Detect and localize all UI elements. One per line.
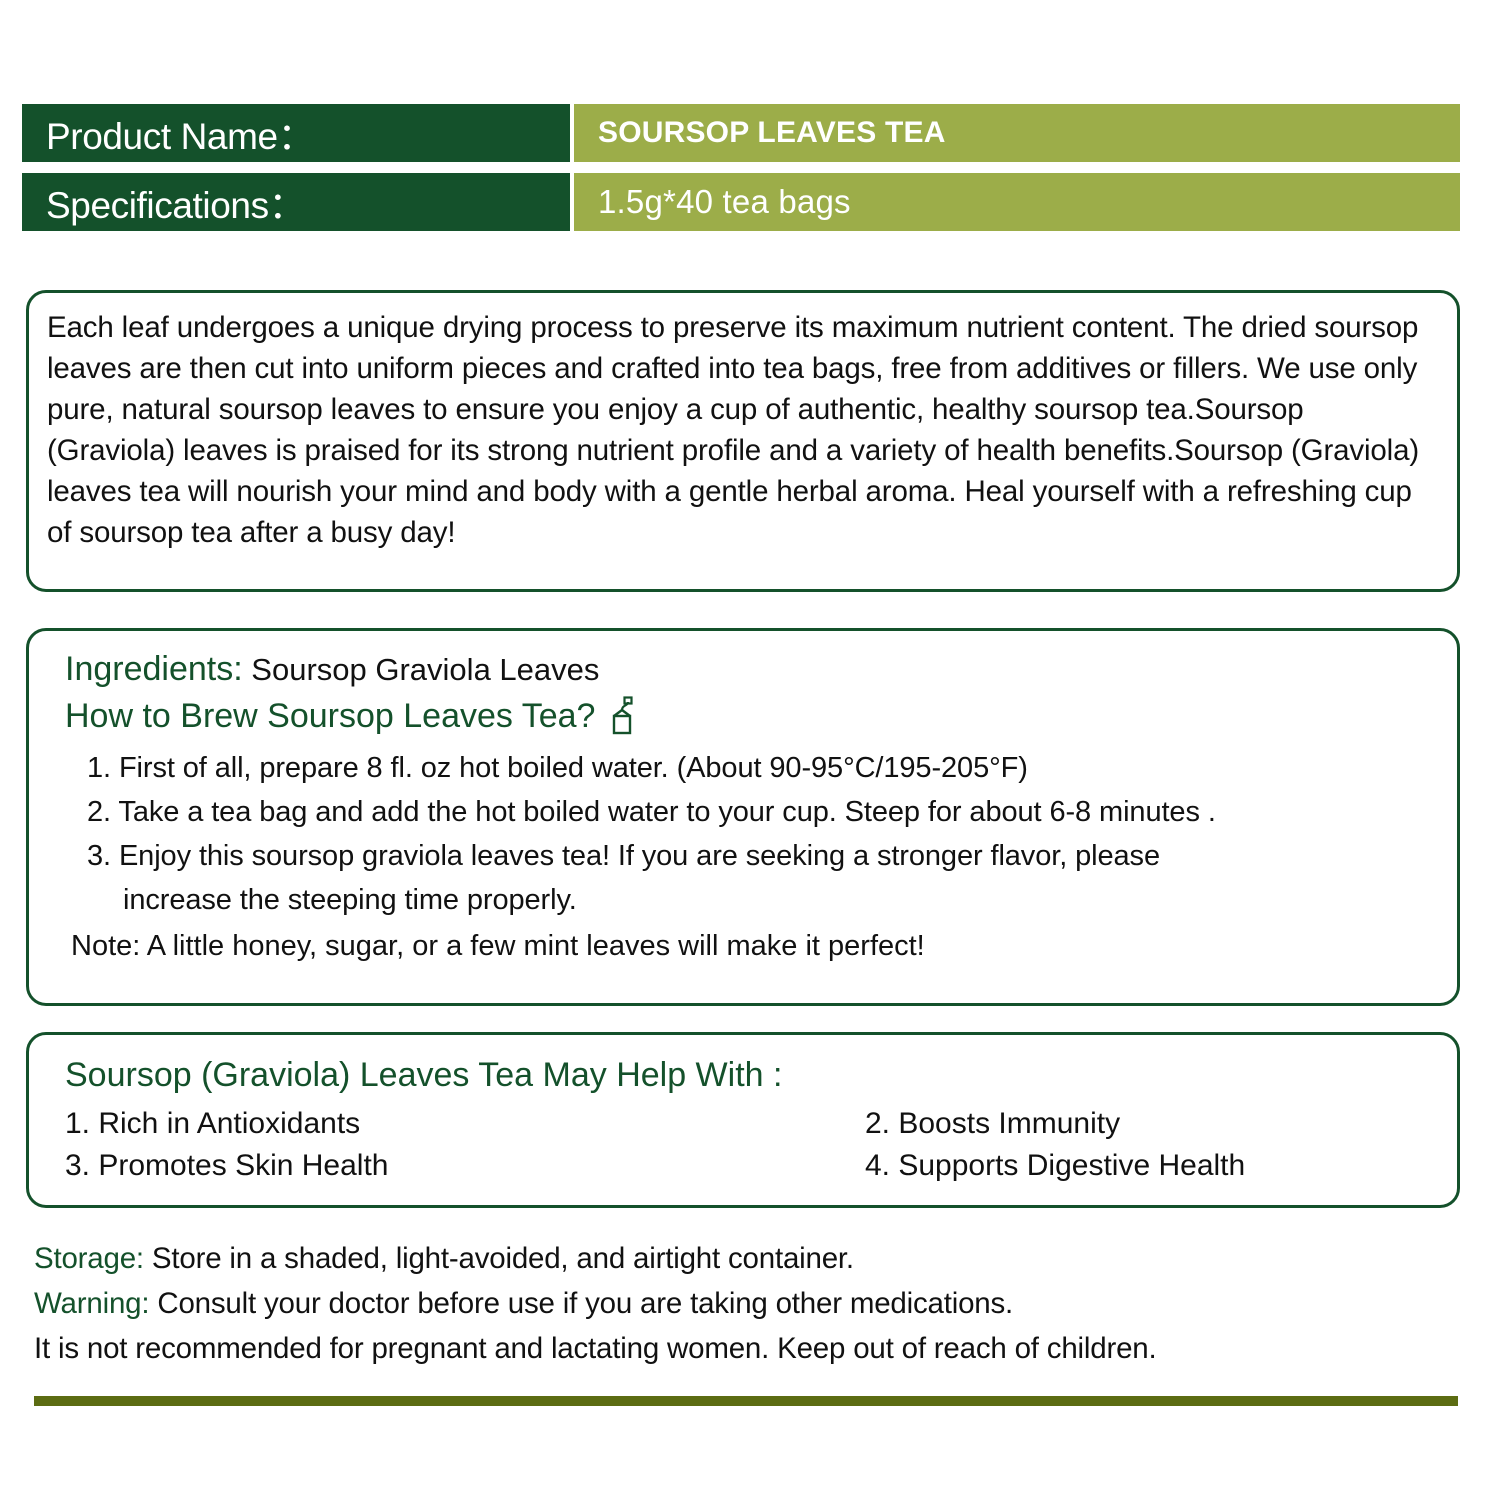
brewing-step-3-continuation: increase the steeping time properly. [87,878,1439,922]
description-box: Each leaf undergoes a unique drying proc… [26,290,1460,592]
benefit-item-4: 4. Supports Digestive Health [865,1145,1439,1187]
brewing-step-3: 3. Enjoy this soursop graviola leaves te… [87,834,1439,878]
teabag-icon [609,696,635,736]
specifications-value: 1.5g*40 tea bags [574,173,1460,231]
warning-label: Warning: [34,1287,149,1320]
ingredients-line: Ingredients: Soursop Graviola Leaves [47,647,1439,692]
product-name-value: SOURSOP LEAVES TEA [574,104,1460,162]
product-name-label: Product Name： [22,104,570,162]
storage-text: Store in a shaded, light-avoided, and ai… [144,1242,854,1275]
benefit-item-2: 2. Boosts Immunity [865,1103,1439,1145]
benefits-title: Soursop (Graviola) Leaves Tea May Help W… [47,1051,1439,1099]
ingredients-label: Ingredients: [65,650,243,688]
brewing-step-2: 2. Take a tea bag and add the hot boiled… [87,790,1439,834]
header-row-specifications: Specifications： 1.5g*40 tea bags [22,173,1460,231]
ingredients-value: Soursop Graviola Leaves [251,652,599,687]
bottom-accent-bar [34,1396,1458,1406]
brewing-instructions-box: Ingredients: Soursop Graviola Leaves How… [26,628,1460,1006]
storage-line: Storage: Store in a shaded, light-avoide… [34,1236,1464,1281]
header-spec-table: Product Name： SOURSOP LEAVES TEA Specifi… [22,104,1460,242]
how-to-brew-heading: How to Brew Soursop Leaves Tea? [47,692,1439,740]
product-info-label: Product Name： SOURSOP LEAVES TEA Specifi… [0,0,1500,1500]
footer-notes: Storage: Store in a shaded, light-avoide… [34,1236,1464,1371]
warning-text: Consult your doctor before use if you ar… [149,1287,1013,1320]
specifications-label: Specifications： [22,173,570,231]
brewing-step-1: 1. First of all, prepare 8 fl. oz hot bo… [87,746,1439,790]
header-row-product-name: Product Name： SOURSOP LEAVES TEA [22,104,1460,162]
benefits-box: Soursop (Graviola) Leaves Tea May Help W… [26,1032,1460,1208]
brewing-steps: 1. First of all, prepare 8 fl. oz hot bo… [47,746,1439,922]
benefit-item-3: 3. Promotes Skin Health [65,1145,865,1187]
storage-label: Storage: [34,1242,144,1275]
warning-line-2: It is not recommended for pregnant and l… [34,1326,1464,1371]
benefits-grid: 1. Rich in Antioxidants 2. Boosts Immuni… [47,1103,1439,1187]
how-to-brew-text: How to Brew Soursop Leaves Tea? [65,692,595,740]
benefit-item-1: 1. Rich in Antioxidants [65,1103,865,1145]
brewing-note: Note: A little honey, sugar, or a few mi… [47,924,1439,968]
description-text: Each leaf undergoes a unique drying proc… [47,307,1439,553]
warning-line: Warning: Consult your doctor before use … [34,1281,1464,1326]
